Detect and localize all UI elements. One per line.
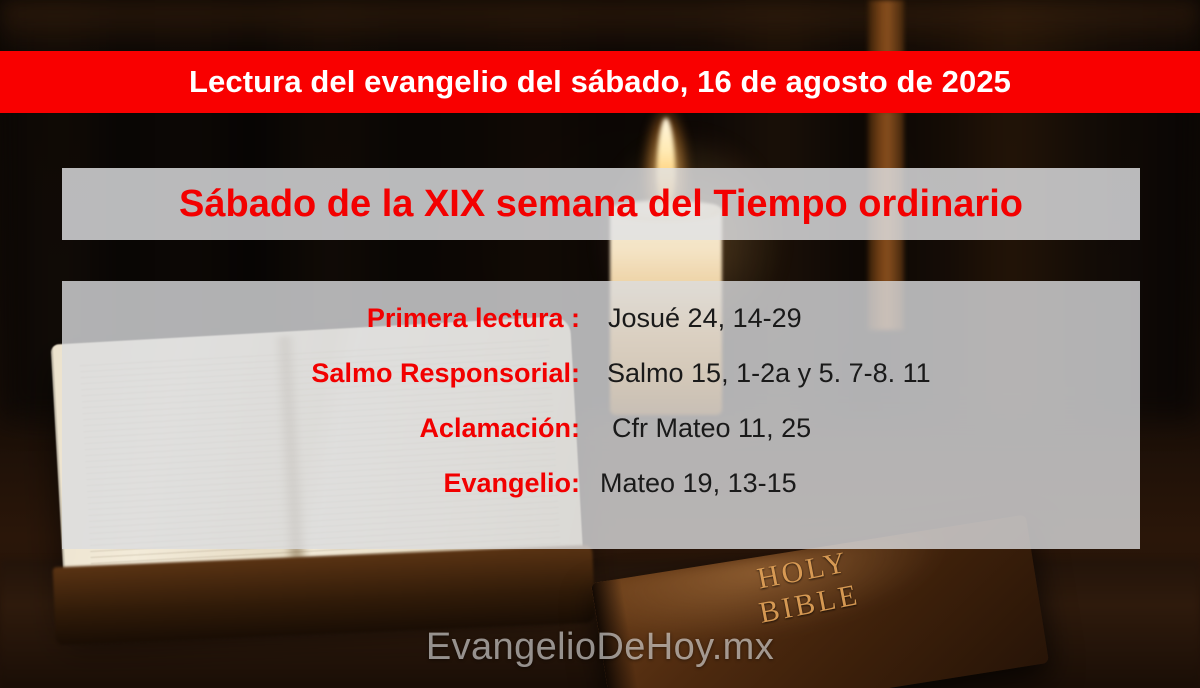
site-watermark: EvangelioDeHoy.mx: [0, 626, 1200, 669]
reading-value-salmo-responsorial: Salmo 15, 1-2a y 5. 7-8. 11: [580, 358, 931, 389]
readings-panel: Primera lectura : Josué 24, 14-29 Salmo …: [62, 281, 1140, 549]
reading-label-evangelio: Evangelio:: [62, 468, 580, 499]
liturgical-day-panel: Sábado de la XIX semana del Tiempo ordin…: [62, 168, 1140, 240]
liturgical-day-title: Sábado de la XIX semana del Tiempo ordin…: [179, 183, 1023, 226]
reading-label-salmo-responsorial: Salmo Responsorial:: [62, 358, 580, 389]
reading-label-primera-lectura: Primera lectura :: [62, 303, 580, 334]
reading-row: Evangelio: Mateo 19, 13-15: [62, 468, 1140, 523]
header-banner-title: Lectura del evangelio del sábado, 16 de …: [189, 64, 1011, 100]
reading-value-evangelio: Mateo 19, 13-15: [580, 468, 797, 499]
reading-row: Primera lectura : Josué 24, 14-29: [62, 303, 1140, 358]
reading-row: Salmo Responsorial: Salmo 15, 1-2a y 5. …: [62, 358, 1140, 413]
header-banner: Lectura del evangelio del sábado, 16 de …: [0, 51, 1200, 113]
reading-value-aclamacion: Cfr Mateo 11, 25: [580, 413, 811, 444]
reading-row: Aclamación: Cfr Mateo 11, 25: [62, 413, 1140, 468]
reading-value-primera-lectura: Josué 24, 14-29: [580, 303, 802, 334]
reading-label-aclamacion: Aclamación:: [62, 413, 580, 444]
gospel-reading-graphic: HOLY BIBLE Lectura del evangelio del sáb…: [0, 0, 1200, 688]
